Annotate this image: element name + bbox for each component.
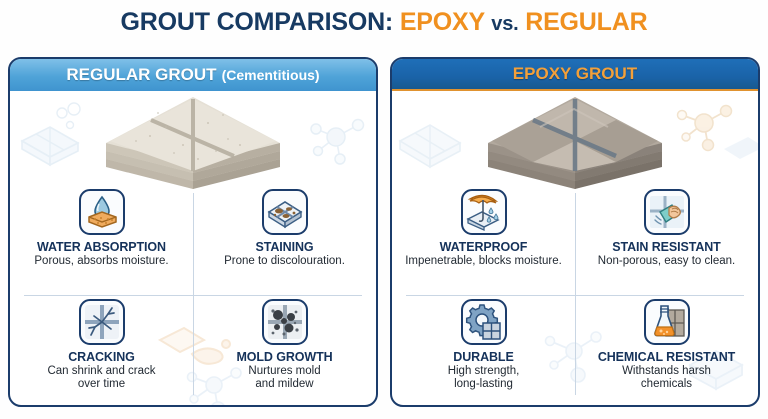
feature-title: WATER ABSORPTION — [37, 240, 166, 254]
feature-stain-resistant[interactable]: STAIN RESISTANT Non-porous, easy to clea… — [575, 187, 758, 295]
hero-cementitious-tile-stack — [10, 93, 376, 193]
page-title: GROUT COMPARISON: EPOXY vs. REGULAR — [0, 8, 768, 37]
feature-desc: Nurtures mold and mildew — [248, 365, 320, 391]
umbrella-rain-tile-icon — [461, 189, 507, 235]
panel-header-subtitle-regular: (Cementitious) — [222, 67, 320, 83]
feature-desc: Porous, absorbs moisture. — [34, 255, 168, 268]
panel-header-epoxy: EPOXY GROUT — [392, 59, 758, 91]
feature-desc: High strength, long-lasting — [448, 365, 520, 391]
panel-epoxy-grout: EPOXY GROUT — [390, 57, 760, 407]
feature-durable[interactable]: DURABLE High strength, long-lasting — [392, 297, 575, 405]
feature-desc: Prone to discolouration. — [224, 255, 345, 268]
feature-desc: Can shrink and crack over time — [47, 365, 155, 391]
feature-desc: Withstands harsh chemicals — [622, 365, 711, 391]
panel-regular-grout: REGULAR GROUT (Cementitious) — [8, 57, 378, 407]
title-part-epoxy: EPOXY — [400, 8, 485, 36]
feature-waterproof[interactable]: WATERPROOF Impenetrable, blocks moisture… — [392, 187, 575, 295]
infographic-canvas: GROUT COMPARISON: EPOXY vs. REGULAR REGU… — [0, 0, 768, 419]
gear-tile-icon — [461, 299, 507, 345]
feature-mold-growth[interactable]: MOLD GROWTH Nurtures mold and mildew — [193, 297, 376, 405]
feature-title: CHEMICAL RESISTANT — [598, 350, 735, 364]
title-part-regular: REGULAR — [525, 8, 647, 36]
feature-grid-epoxy: WATERPROOF Impenetrable, blocks moisture… — [392, 187, 758, 405]
feature-grid-regular: WATER ABSORPTION Porous, absorbs moistur… — [10, 187, 376, 405]
feature-cracking[interactable]: CRACKING Can shrink and crack over time — [10, 297, 193, 405]
water-drop-sponge-icon — [79, 189, 125, 235]
title-part-comparison: GROUT COMPARISON: — [121, 8, 394, 36]
feature-title: STAIN RESISTANT — [612, 240, 720, 254]
flask-tile-icon — [644, 299, 690, 345]
feature-title: DURABLE — [453, 350, 513, 364]
panel-header-title-epoxy: EPOXY GROUT — [513, 64, 637, 84]
grid-divider-horizontal — [406, 295, 744, 296]
hand-wiping-cloth-icon — [644, 189, 690, 235]
feature-title: MOLD GROWTH — [236, 350, 332, 364]
hero-epoxy-tile-stack — [392, 93, 758, 193]
grid-divider-horizontal — [24, 295, 362, 296]
feature-title: STAINING — [256, 240, 314, 254]
feature-title: WATERPROOF — [440, 240, 528, 254]
mold-spots-tile-icon — [262, 299, 308, 345]
feature-desc: Impenetrable, blocks moisture. — [405, 255, 562, 268]
panel-header-title-regular: REGULAR GROUT — [66, 65, 216, 85]
feature-desc: Non-porous, easy to clean. — [598, 255, 735, 268]
feature-chemical-resistant[interactable]: CHEMICAL RESISTANT Withstands harsh chem… — [575, 297, 758, 405]
feature-water-absorption[interactable]: WATER ABSORPTION Porous, absorbs moistur… — [10, 187, 193, 295]
title-part-vs: vs. — [491, 13, 518, 35]
feature-title: CRACKING — [68, 350, 135, 364]
feature-staining[interactable]: STAINING Prone to discolouration. — [193, 187, 376, 295]
stained-tile-icon — [262, 189, 308, 235]
panel-header-regular: REGULAR GROUT (Cementitious) — [10, 59, 376, 91]
cracked-tile-icon — [79, 299, 125, 345]
